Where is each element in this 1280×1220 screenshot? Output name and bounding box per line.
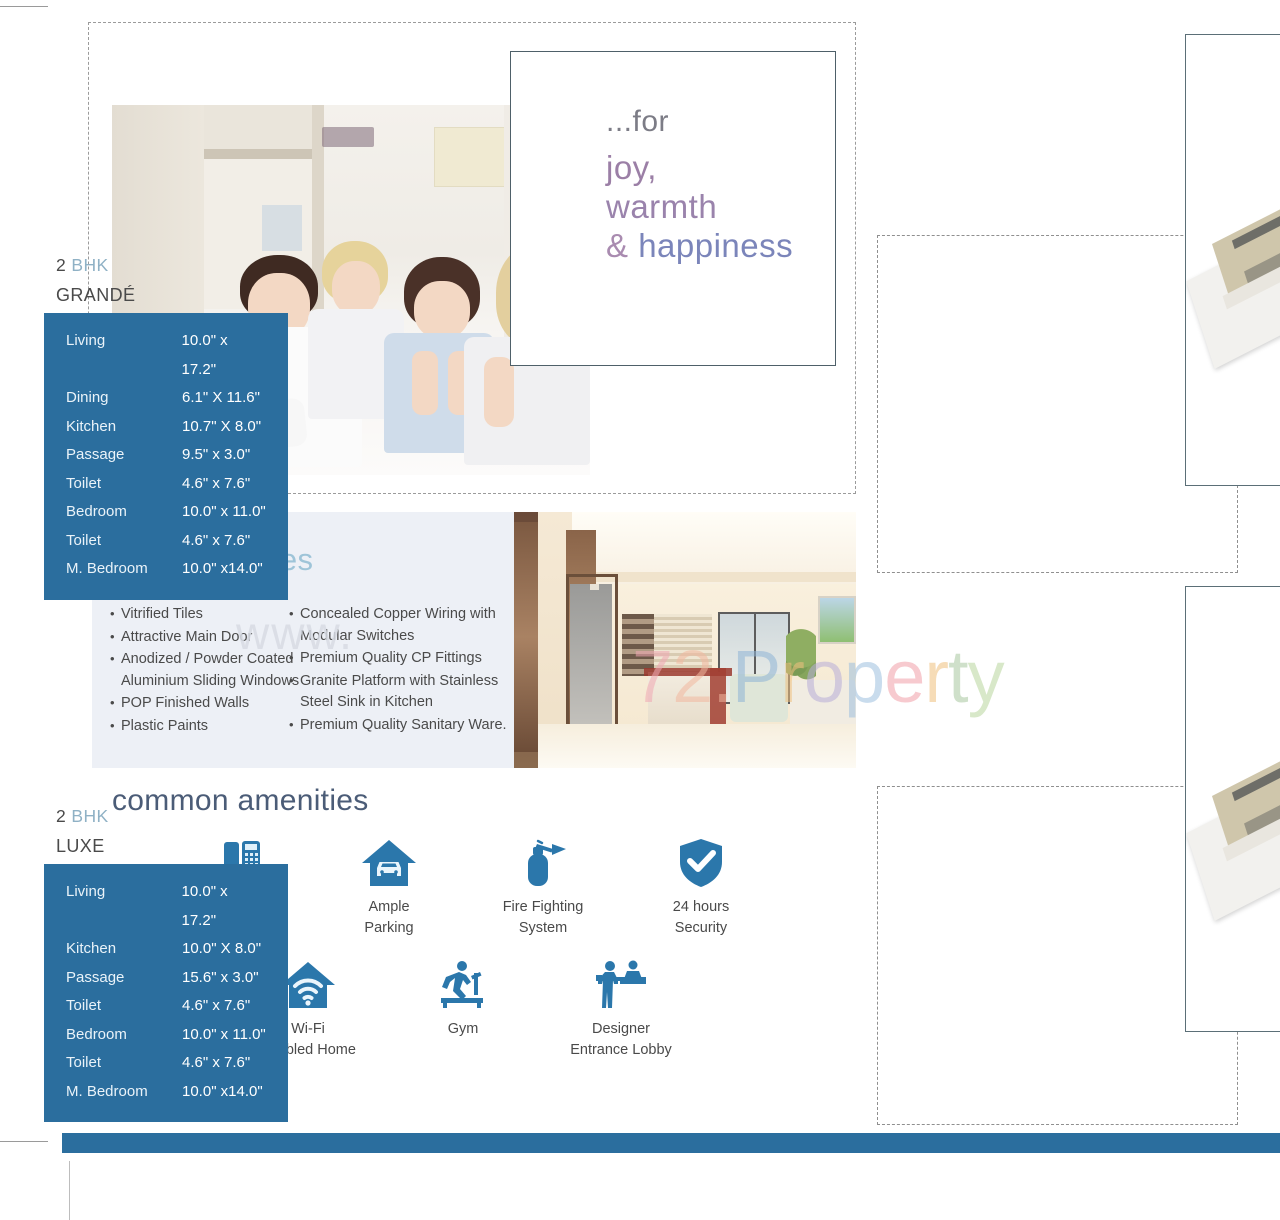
watermark-char-e: e	[884, 635, 924, 718]
amenity-gym[interactable]: Gym	[388, 958, 538, 1040]
amenity-label: Designer Entrance Lobby	[546, 1019, 696, 1061]
tagline-line-happiness: & happiness	[606, 227, 886, 266]
list-item: Granite Platform with Stainless Steel Si…	[289, 671, 519, 714]
list-item: Attractive Main Door	[110, 627, 305, 649]
room-name: Toilet	[66, 527, 182, 556]
table-row: Toilet 4.6" x 7.6"	[44, 1049, 288, 1078]
room-dimension: 4.6" x 7.6"	[182, 470, 250, 499]
room-name: M. Bedroom	[66, 1078, 182, 1107]
interior-render-photo	[514, 512, 856, 768]
tagline: ...for joy, warmth & happiness	[606, 104, 886, 266]
room-name: Kitchen	[66, 413, 182, 442]
table-row: Toilet 4.6" x 7.6"	[44, 470, 288, 499]
room-dimension: 4.6" x 7.6"	[182, 527, 250, 556]
floorplan-render-bottom	[1185, 586, 1280, 1032]
room-name: Toilet	[66, 1049, 182, 1078]
amenity-label: 24 hours Security	[626, 897, 776, 939]
room-name: Living	[66, 878, 182, 935]
plan-grande-heading: 2 BHK GRANDÉ	[56, 250, 135, 310]
amenity-parking[interactable]: Ample Parking	[314, 836, 464, 939]
list-item: Anodized / Powder Coated Aluminium Slidi…	[110, 649, 305, 692]
room-name: Passage	[66, 964, 182, 993]
room-dimension: 15.6" x 3.0"	[182, 964, 259, 993]
list-item: Concealed Copper Wiring with Modular Swi…	[289, 604, 519, 647]
list-item: Premium Quality Sanitary Ware.	[289, 715, 519, 737]
table-row: Kitchen 10.7" X 8.0"	[44, 413, 288, 442]
reception-lobby-icon	[546, 958, 696, 1010]
plan-luxe-name: LUXE	[56, 831, 109, 861]
plan-card-luxe-frame	[877, 786, 1238, 1125]
table-row: Passage 9.5" x 3.0"	[44, 441, 288, 470]
room-dimension: 10.7" X 8.0"	[182, 413, 261, 442]
room-dimension: 10.0" x 11.0"	[182, 498, 266, 527]
room-name: Living	[66, 327, 182, 384]
plan-luxe-bhk-label: BHK	[71, 806, 108, 826]
room-dimension: 10.0" x14.0"	[182, 1078, 263, 1107]
room-name: Bedroom	[66, 498, 182, 527]
list-item: Plastic Paints	[110, 716, 305, 738]
features-list-left: Vitrified Tiles Attractive Main Door Ano…	[110, 604, 305, 738]
tagline-happiness-word: happiness	[638, 227, 793, 264]
bottom-left-rule	[0, 1141, 48, 1142]
watermark-char-y: y	[968, 635, 1004, 718]
table-row: M. Bedroom 10.0" x14.0"	[44, 1078, 288, 1107]
room-dimension: 10.0" x 17.2"	[182, 327, 267, 384]
list-item: POP Finished Walls	[110, 693, 305, 715]
table-row: M. Bedroom 10.0" x14.0"	[44, 555, 288, 584]
tagline-line-for: ...for	[606, 104, 886, 139]
room-dimension: 10.0" x14.0"	[182, 555, 263, 584]
table-row: Kitchen 10.0" X 8.0"	[44, 935, 288, 964]
amenity-security[interactable]: 24 hours Security	[626, 836, 776, 939]
watermark-char-t: t	[948, 635, 968, 718]
fire-extinguisher-icon	[468, 836, 618, 888]
table-row: Toilet 4.6" x 7.6"	[44, 527, 288, 556]
table-row: Dining 6.1" X 11.6"	[44, 384, 288, 413]
room-name: Bedroom	[66, 1021, 182, 1050]
room-dimension: 4.6" x 7.6"	[182, 992, 250, 1021]
plan-luxe-heading: 2 BHK LUXE	[56, 801, 109, 861]
amenity-fire-fighting[interactable]: Fire Fighting System	[468, 836, 618, 939]
amenity-label: Ample Parking	[314, 897, 464, 939]
table-row: Bedroom 10.0" x 11.0"	[44, 498, 288, 527]
plan-luxe-bhk-number: 2	[56, 806, 66, 826]
tagline-ampersand: &	[606, 227, 629, 264]
bottom-blue-bar	[62, 1133, 1280, 1153]
plan-grande-name: GRANDÉ	[56, 280, 135, 310]
room-name: Toilet	[66, 470, 182, 499]
tagline-line-joy: joy,	[606, 149, 886, 188]
features-list-right: Concealed Copper Wiring with Modular Swi…	[289, 604, 519, 737]
plan-grande-table: Living 10.0" x 17.2" Dining 6.1" X 11.6"…	[44, 313, 288, 600]
room-name: Dining	[66, 384, 182, 413]
plan-luxe-table: Living 10.0" x 17.2" Kitchen 10.0" X 8.0…	[44, 864, 288, 1122]
room-dimension: 10.0" x 17.2"	[182, 878, 267, 935]
room-dimension: 4.6" x 7.6"	[182, 1049, 250, 1078]
top-left-rule	[0, 6, 48, 7]
bottom-left-vertical-rule	[69, 1161, 70, 1220]
plan-grande-bhk-label: BHK	[71, 255, 108, 275]
room-name: Kitchen	[66, 935, 182, 964]
watermark-char-r2: r	[924, 635, 948, 718]
room-name: Passage	[66, 441, 182, 470]
plan-card-grande-frame	[877, 235, 1238, 573]
table-row: Bedroom 10.0" x 11.0"	[44, 1021, 288, 1050]
room-dimension: 9.5" x 3.0"	[182, 441, 250, 470]
table-row: Living 10.0" x 17.2"	[44, 878, 288, 935]
list-item: Vitrified Tiles	[110, 604, 305, 626]
list-item: Premium Quality CP Fittings	[289, 648, 519, 670]
room-dimension: 10.0" x 11.0"	[182, 1021, 266, 1050]
table-row: Living 10.0" x 17.2"	[44, 327, 288, 384]
table-row: Passage 15.6" x 3.0"	[44, 964, 288, 993]
house-car-parking-icon	[314, 836, 464, 888]
room-name: Toilet	[66, 992, 182, 1021]
shield-check-icon	[626, 836, 776, 888]
amenity-lobby[interactable]: Designer Entrance Lobby	[546, 958, 696, 1061]
room-name: M. Bedroom	[66, 555, 182, 584]
room-dimension: 10.0" X 8.0"	[182, 935, 261, 964]
amenity-label: Gym	[388, 1019, 538, 1040]
amenities-heading: common amenities	[112, 784, 369, 818]
plan-grande-bhk-number: 2	[56, 255, 66, 275]
treadmill-gym-icon	[388, 958, 538, 1010]
table-row: Toilet 4.6" x 7.6"	[44, 992, 288, 1021]
tagline-line-warmth: warmth	[606, 188, 886, 227]
amenity-label: Fire Fighting System	[468, 897, 618, 939]
floorplan-render-top	[1185, 34, 1280, 486]
room-dimension: 6.1" X 11.6"	[182, 384, 260, 413]
